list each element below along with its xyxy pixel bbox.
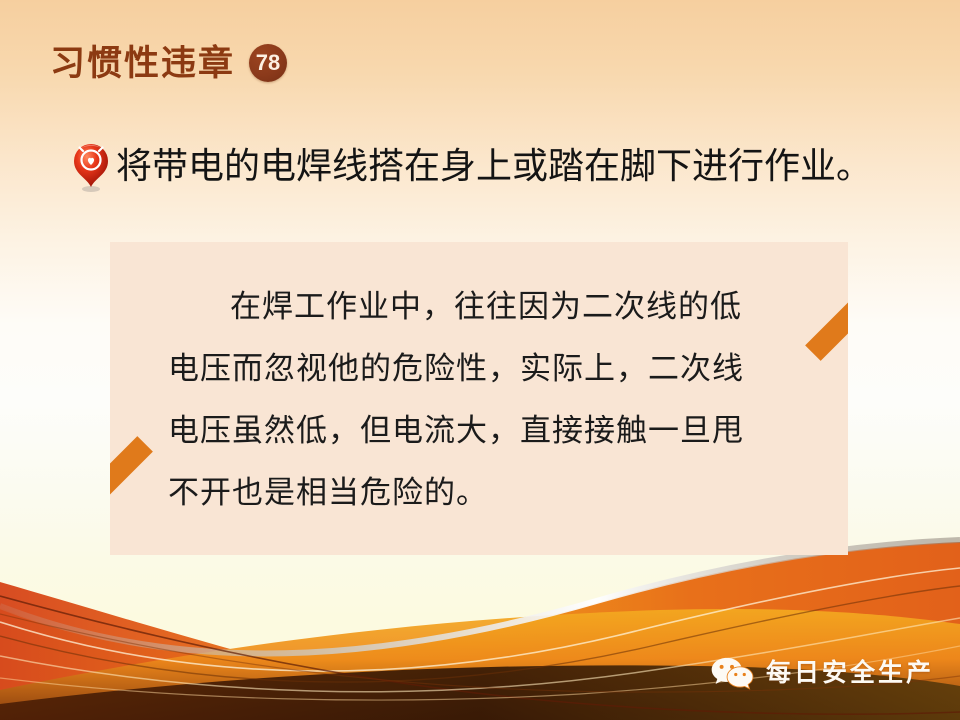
page-title: 习惯性违章 78	[50, 44, 287, 82]
content-line: 不开也是相当危险的。	[168, 462, 790, 524]
watermark: 每日安全生产	[710, 656, 934, 690]
content-line: 电压而忽视他的危险性，实际上，二次线	[168, 338, 790, 400]
page-title-text: 习惯性违章	[50, 46, 235, 81]
content-line: 在焊工作业中，往往因为二次线的低	[168, 276, 790, 338]
wechat-icon	[710, 656, 754, 690]
watermark-text: 每日安全生产	[766, 661, 934, 686]
content-line: 电压虽然低，但电流大，直接接触一旦甩	[168, 400, 790, 462]
content-panel-body: 在焊工作业中，往往因为二次线的低 电压而忽视他的危险性，实际上，二次线 电压虽然…	[110, 242, 848, 524]
headline-text: 将带电的电焊线搭在身上或踏在脚下进行作业。	[116, 147, 872, 187]
red-pin-alarm-icon	[68, 140, 114, 194]
content-panel: 在焊工作业中，往往因为二次线的低 电压而忽视他的危险性，实际上，二次线 电压虽然…	[110, 242, 848, 555]
page-number-badge: 78	[249, 44, 287, 82]
slide-canvas: 习惯性违章 78 将带电的电焊线搭在身上或踏在脚下进行作业。 在焊工	[0, 0, 960, 720]
headline: 将带电的电焊线搭在身上或踏在脚下进行作业。	[68, 140, 872, 194]
